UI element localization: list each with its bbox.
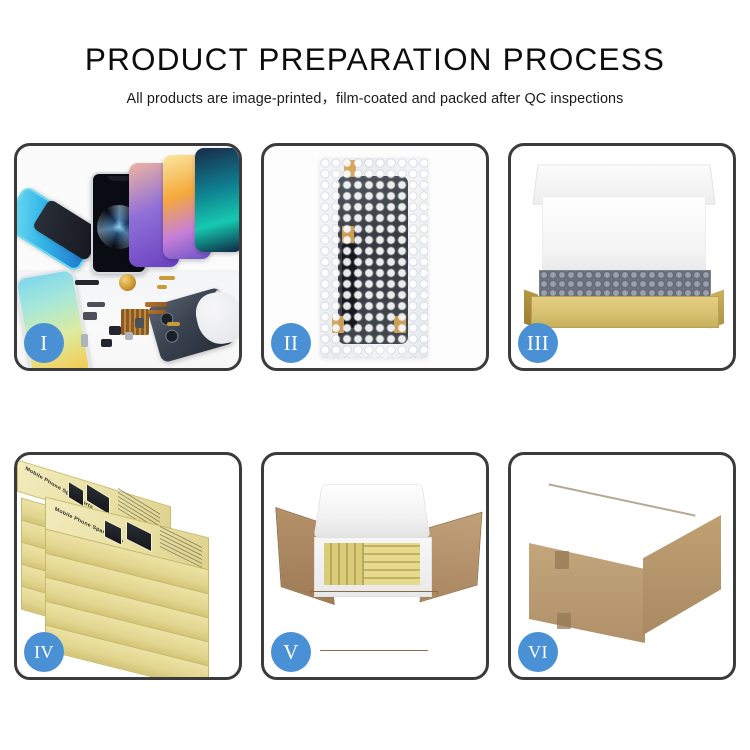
gold-flex-part-icon <box>159 276 175 280</box>
packed-retail-boxes-icon <box>324 543 420 585</box>
carton-tape-icon <box>557 613 571 629</box>
carton-front-face-icon <box>529 543 645 643</box>
step-3-image: III <box>511 146 733 368</box>
step-panel-3[interactable]: III <box>508 143 736 371</box>
notch-icon <box>108 176 130 181</box>
page-title: PRODUCT PREPARATION PROCESS <box>0 0 750 76</box>
camera-lens-icon <box>164 328 180 344</box>
carton-tape-icon <box>555 551 569 569</box>
gold-contact-part-icon <box>167 322 180 326</box>
step-1-image: I <box>17 146 239 368</box>
kraft-box-front-icon <box>531 296 719 328</box>
boxes-horizontal-row-icon <box>364 543 420 585</box>
product-preparation-infographic: PRODUCT PREPARATION PROCESS All products… <box>0 0 750 750</box>
step-badge-6: VI <box>518 632 558 672</box>
process-steps-grid: I II <box>14 143 736 680</box>
foam-lid-icon <box>314 484 431 537</box>
step-5-image: V <box>264 455 486 677</box>
screw-set-part-icon <box>125 332 133 340</box>
sim-tray-part-icon <box>81 334 88 347</box>
ribbon-cable-part-icon <box>87 302 105 307</box>
page-subtitle: All products are image-printed，film-coat… <box>0 76 750 108</box>
step-panel-2[interactable]: II <box>261 143 489 371</box>
antenna-strip-part-icon <box>75 280 99 285</box>
gold-connector-part-icon <box>157 285 167 289</box>
carton-front-icon <box>310 591 438 651</box>
step-badge-3: III <box>518 323 558 363</box>
phone-display-teal-icon <box>195 148 239 252</box>
step-panel-4[interactable]: Mobile Phone Spare Parts Mobile Phone Sp… <box>14 452 242 680</box>
step-badge-1: I <box>24 323 64 363</box>
step-badge-4: IV <box>24 632 64 672</box>
boxes-vertical-row-icon <box>324 543 364 585</box>
step-2-image: II <box>264 146 486 368</box>
step-badge-2: II <box>271 323 311 363</box>
step-panel-5[interactable]: V <box>261 452 489 680</box>
copper-flex-part-icon <box>148 310 166 314</box>
foam-sheet-icon <box>542 196 706 274</box>
camera-module-part-icon <box>135 318 144 328</box>
step-6-image: VI <box>511 455 733 677</box>
bracket-part-icon <box>83 312 97 320</box>
header: PRODUCT PREPARATION PROCESS All products… <box>0 0 750 108</box>
bubble-texture-icon <box>320 158 428 358</box>
vibration-motor-icon <box>119 274 136 291</box>
taptic-part-icon <box>101 339 112 347</box>
speaker-part-icon <box>109 326 121 335</box>
box-window-icon <box>126 521 152 553</box>
step-4-image: Mobile Phone Spare Parts Mobile Phone Sp… <box>17 455 239 677</box>
copper-flex-part-icon <box>145 302 167 307</box>
step-panel-6[interactable]: VI <box>508 452 736 680</box>
step-badge-5: V <box>271 632 311 672</box>
box-window-icon <box>104 519 122 546</box>
bubble-wrap-bag-icon <box>320 158 428 358</box>
step-panel-1[interactable]: I <box>14 143 242 371</box>
